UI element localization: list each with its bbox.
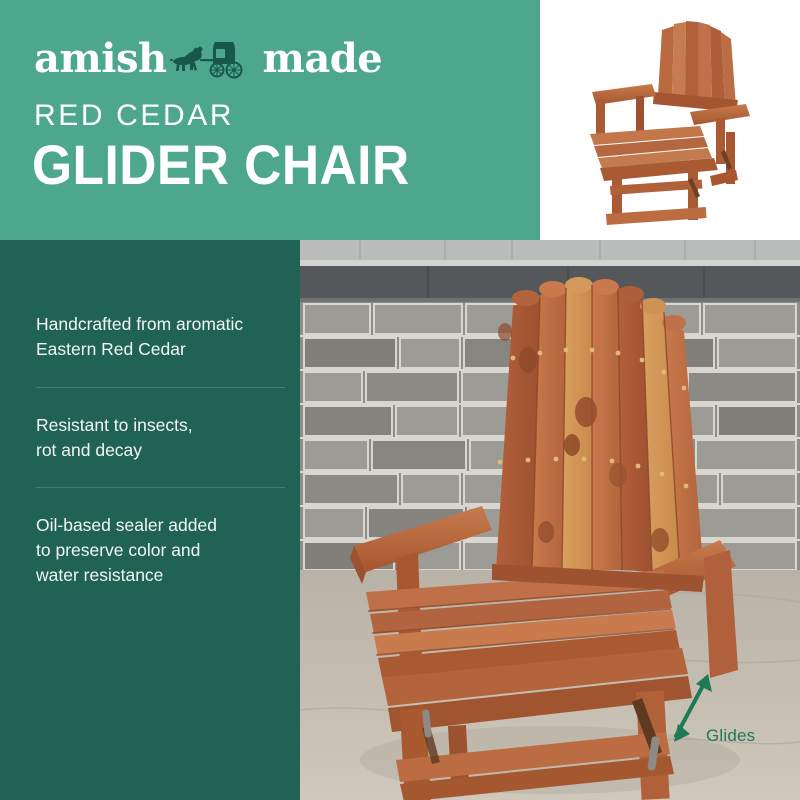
brand-logo: amish	[34, 36, 382, 82]
features-panel: Handcrafted from aromatic Eastern Red Ce…	[0, 240, 300, 800]
feature-line: water resistance	[36, 563, 286, 588]
glides-label: Glides	[706, 726, 755, 746]
horse-and-buggy-icon	[169, 37, 261, 81]
feature-line: Eastern Red Cedar	[36, 337, 286, 362]
page-title: GLIDER CHAIR	[32, 137, 410, 193]
glider-chair-image	[300, 240, 800, 800]
feature-line: Handcrafted from aromatic	[36, 312, 286, 337]
logo-word-made: made	[263, 39, 383, 79]
feature-item: Resistant to insects, rot and decay	[36, 413, 286, 463]
feature-list: Handcrafted from aromatic Eastern Red Ce…	[36, 312, 286, 588]
feature-line: to preserve color and	[36, 538, 286, 563]
logo-word-amish: amish	[34, 39, 167, 79]
glider-chair-photo	[300, 240, 800, 800]
feature-item: Oil-based sealer added to preserve color…	[36, 513, 286, 588]
header-banner: amish	[0, 0, 540, 240]
feature-divider	[36, 487, 285, 488]
product-inset	[540, 0, 800, 240]
feature-line: Oil-based sealer added	[36, 513, 286, 538]
product-eyebrow: RED CEDAR	[34, 101, 234, 131]
infographic-canvas: amish	[0, 0, 800, 800]
feature-line: rot and decay	[36, 438, 286, 463]
product-cutout-image	[540, 0, 800, 240]
feature-line: Resistant to insects,	[36, 413, 286, 438]
feature-divider	[36, 387, 285, 388]
feature-item: Handcrafted from aromatic Eastern Red Ce…	[36, 312, 286, 362]
